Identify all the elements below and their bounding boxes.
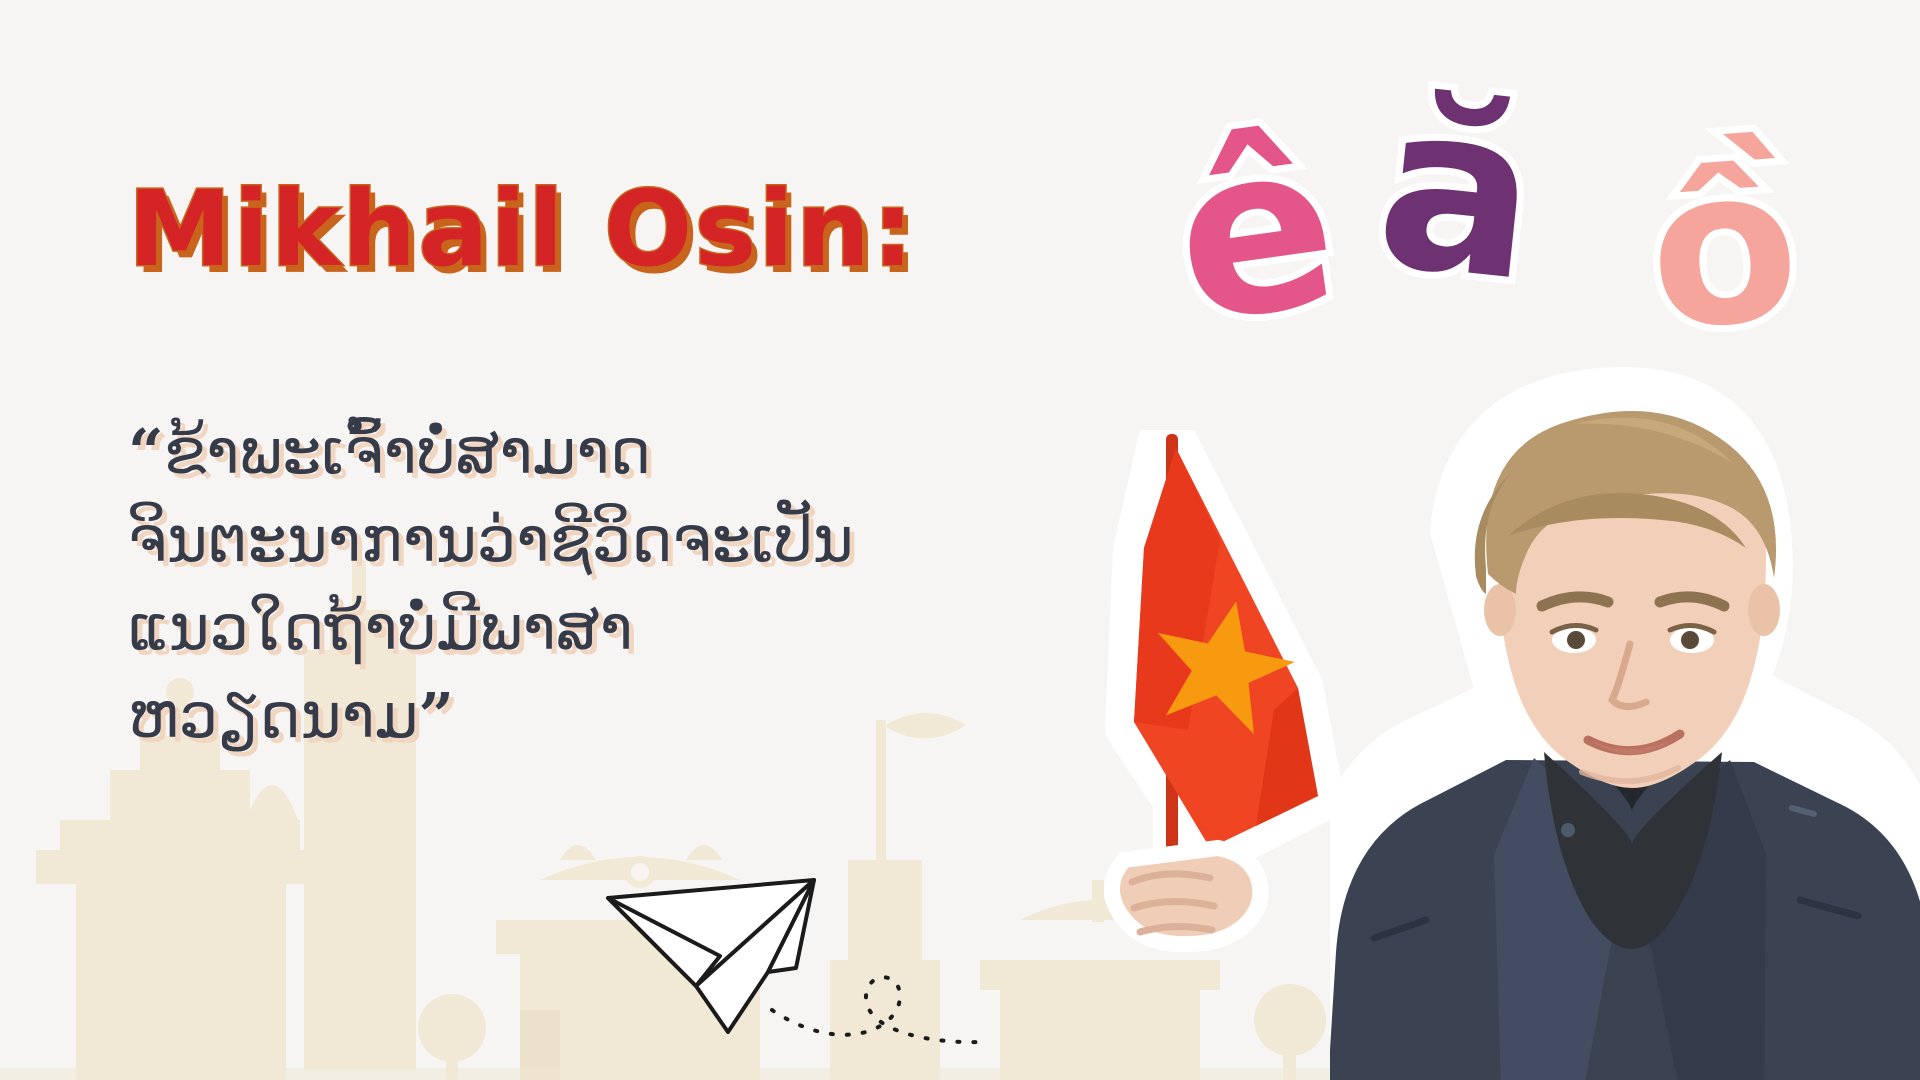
quote-line-1: “ຂ້າພະເຈົ້າບໍ່ສາມາດ bbox=[128, 408, 854, 496]
vietnamese-letter-a-breve-icon: ă bbox=[1368, 71, 1546, 316]
quote-block: “ຂ້າພະເຈົ້າບໍ່ສາມາດ ຈິນຕະນາການວ່າຊີວິດຈະ… bbox=[128, 408, 854, 760]
quote-line-2: ຈິນຕະນາການວ່າຊີວິດຈະເປັນ bbox=[128, 496, 854, 584]
close-quote-mark: ” bbox=[418, 679, 454, 752]
paper-plane-icon bbox=[600, 860, 1120, 1050]
page-title: Mikhail Osin: bbox=[128, 168, 916, 290]
quote-line-4: ຫວຽດນາມ” bbox=[128, 672, 854, 760]
banner-canvas: ê ă ồ Mikhail Osin: “ຂ້າພະເຈົ້າບໍ່ສາມາດ … bbox=[0, 0, 1920, 1080]
vietnamese-letter-o-circumflex-grave-icon: ồ bbox=[1643, 135, 1805, 360]
quote-line-4-text: ຫວຽດນາມ bbox=[128, 679, 418, 752]
vietnamese-letter-e-circumflex-icon: ê bbox=[1163, 108, 1349, 357]
open-quote-mark: “ bbox=[128, 415, 164, 488]
quote-line-3: ແນວໃດຖ້າບໍ່ມີພາສາ bbox=[128, 584, 854, 672]
quote-line-1-text: ຂ້າພະເຈົ້າບໍ່ສາມາດ bbox=[164, 415, 651, 488]
person-photo bbox=[1330, 360, 1920, 1080]
